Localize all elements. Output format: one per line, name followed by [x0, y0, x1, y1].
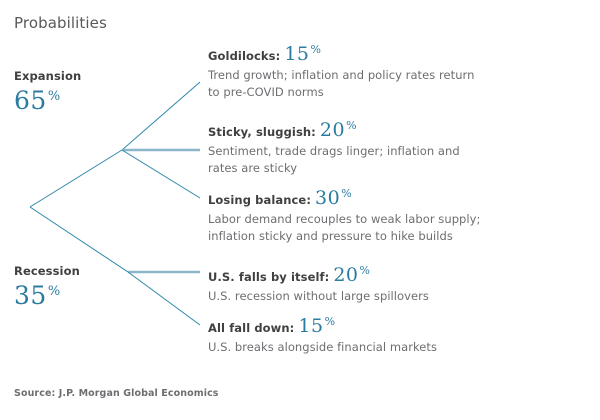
scenario-value: 20: [333, 264, 358, 286]
scenario-label: All fall down:: [208, 321, 294, 335]
root-value-number-expansion: 65: [14, 86, 47, 115]
scenario-value: 30: [315, 187, 340, 209]
root-label-expansion: Expansion: [14, 69, 81, 83]
scenario-heading: All fall down:15%: [208, 313, 588, 337]
scenario-goldilocks: Goldilocks:15% Trend growth; inflation a…: [208, 41, 588, 101]
scenario-label: Losing balance:: [208, 193, 311, 207]
scenario-us-falls-by-itself: U.S. falls by itself:20% U.S. recession …: [208, 262, 588, 305]
source-note: Source: J.P. Morgan Global Economics: [14, 388, 219, 399]
scenario-heading: Sticky, sluggish:20%: [208, 117, 588, 141]
scenario-label: Sticky, sluggish:: [208, 125, 316, 139]
branch-root-to-recession: [30, 207, 128, 272]
description-line: U.S. recession without large spillovers: [208, 288, 588, 305]
root-node-expansion: Expansion 65%: [14, 69, 81, 117]
scenario-all-fall-down: All fall down:15% U.S. breaks alongside …: [208, 313, 588, 356]
scenario-value: 15: [298, 315, 323, 337]
page-title: Probabilities: [14, 14, 107, 32]
percent-sign-icon: %: [360, 264, 370, 277]
description-line: Sentiment, trade drags linger; inflation…: [208, 143, 588, 160]
branch-recession-to-all-fall-down: [128, 272, 200, 325]
branch-root-to-expansion: [30, 150, 122, 207]
scenario-label: Goldilocks:: [208, 49, 280, 63]
percent-sign-icon: %: [311, 43, 321, 56]
scenario-value: 20: [320, 119, 345, 141]
branch-expansion-to-goldilocks: [122, 82, 200, 150]
scenario-description: Trend growth; inflation and policy rates…: [208, 67, 588, 101]
root-value-number-recession: 35: [14, 281, 47, 310]
percent-sign-icon: %: [325, 315, 335, 328]
scenario-sticky-sluggish: Sticky, sluggish:20% Sentiment, trade dr…: [208, 117, 588, 177]
percent-sign-icon: %: [346, 119, 356, 132]
root-value-recession: 35%: [14, 279, 80, 312]
description-line: rates are sticky: [208, 160, 588, 177]
scenario-description: Labor demand recouples to weak labor sup…: [208, 211, 588, 245]
scenario-description: U.S. breaks alongside financial markets: [208, 339, 588, 356]
root-node-recession: Recession 35%: [14, 264, 80, 312]
branch-expansion-to-losing-balance: [122, 150, 200, 198]
scenario-heading: Losing balance:30%: [208, 185, 588, 209]
scenario-description: Sentiment, trade drags linger; inflation…: [208, 143, 588, 177]
description-line: Trend growth; inflation and policy rates…: [208, 67, 588, 84]
percent-sign-icon: %: [48, 89, 60, 104]
percent-sign-icon: %: [341, 187, 351, 200]
scenario-label: U.S. falls by itself:: [208, 270, 329, 284]
scenario-value: 15: [284, 43, 309, 65]
root-label-recession: Recession: [14, 264, 80, 278]
scenario-heading: U.S. falls by itself:20%: [208, 262, 588, 286]
scenario-description: U.S. recession without large spillovers: [208, 288, 588, 305]
description-line: to pre-COVID norms: [208, 84, 588, 101]
root-value-expansion: 65%: [14, 84, 81, 117]
scenario-losing-balance: Losing balance:30% Labor demand recouple…: [208, 185, 588, 245]
description-line: U.S. breaks alongside financial markets: [208, 339, 588, 356]
scenario-heading: Goldilocks:15%: [208, 41, 588, 65]
percent-sign-icon: %: [48, 284, 60, 299]
description-line: Labor demand recouples to weak labor sup…: [208, 211, 588, 228]
description-line: inflation sticky and pressure to hike bu…: [208, 228, 588, 245]
probability-tree-chart: Probabilities Expansion 65% Recession 35…: [0, 0, 600, 420]
